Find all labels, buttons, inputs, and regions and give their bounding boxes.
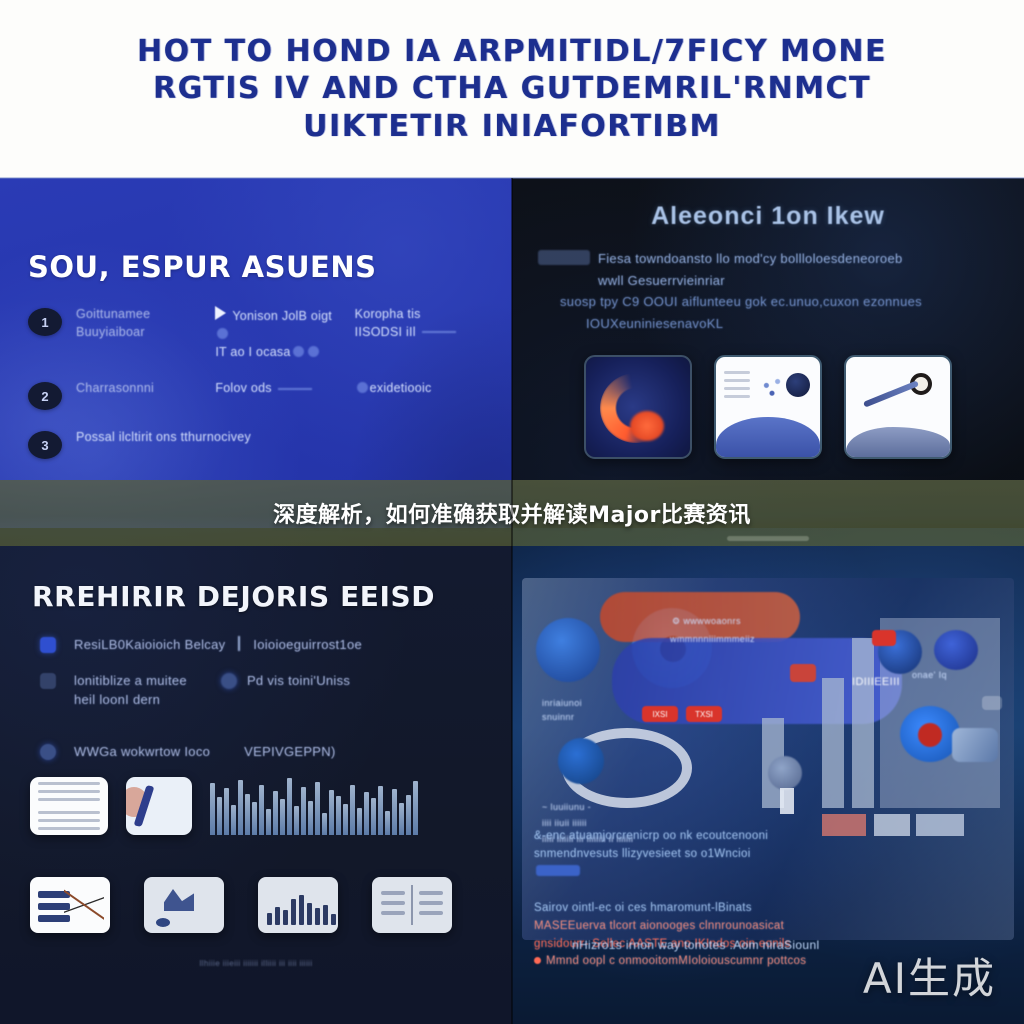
row-right-text: VEPIVGEPPN) bbox=[244, 742, 335, 762]
chip-icon bbox=[308, 346, 319, 357]
br-line-2: snmendnvesuts llizyvesieet so o1Wncioi bbox=[534, 846, 1008, 864]
red-dot bbox=[918, 723, 942, 747]
badge-icon bbox=[536, 865, 580, 876]
device-chip bbox=[952, 728, 998, 762]
br2-line-4: Mmnd oopl c onmooitomMIoloiouscumnr pott… bbox=[546, 955, 806, 967]
globe-icon bbox=[40, 744, 56, 760]
document-pages-card bbox=[372, 877, 452, 933]
title-line-3: UIKTETIR INIAFORTIBM bbox=[303, 109, 721, 144]
row-left-text: WWGa wokwrtow Ioco bbox=[74, 742, 210, 762]
list-item-col1-line1: Possal ilcltirit ons tthurnocivey bbox=[76, 429, 484, 447]
chip-icon bbox=[357, 382, 368, 393]
chip-icon bbox=[293, 346, 304, 357]
br-line-1: &-enc atuamjorcrenicrp oo nk ecoutcenoon… bbox=[534, 828, 1008, 846]
list-item-col2-line1: Folov ods bbox=[215, 381, 271, 395]
top-left-heading: SOU, ESPUR ASUENS bbox=[28, 250, 484, 284]
globe-icon bbox=[221, 673, 237, 689]
panel-top-right: Aleeonci 1on Ikew Fiesa towndoansto llo … bbox=[512, 178, 1024, 528]
thumbnail-row-top bbox=[0, 777, 512, 835]
collage-label: iiii iiuii iiiiii bbox=[542, 818, 722, 828]
document-thumbnail bbox=[30, 777, 108, 835]
placeholder-text-lines bbox=[724, 371, 750, 403]
list-item-col3-line2: IISODSI iIl bbox=[355, 325, 416, 339]
row-left-text-2: heil loonI dern bbox=[74, 690, 187, 710]
collage-label: ~ luuiiunu - bbox=[542, 802, 722, 812]
analytics-preview bbox=[844, 355, 952, 459]
red-pill-badge: TXSI bbox=[686, 706, 722, 722]
divider-line bbox=[278, 388, 312, 390]
list-number-badge: 1 bbox=[28, 308, 62, 336]
collage-label: wmmnnniiimmmeiiz bbox=[670, 634, 850, 644]
list-item-col1-line1: Charrasonnni bbox=[76, 380, 205, 398]
top-right-heading: Aleeonci 1on Ikew bbox=[538, 202, 998, 231]
bottom-left-footer: llhiiie iiieiii iiiiiii illiiii iii iiii… bbox=[0, 959, 512, 968]
list-number-badge: 3 bbox=[28, 431, 62, 459]
top-right-line-2: wwll Gesuerrvieinriar bbox=[538, 271, 998, 291]
gray-bar bbox=[822, 678, 844, 808]
br2-line-1: Sairov ointl-ec oi ces hmaromunt-lBinats bbox=[534, 900, 1008, 918]
tech-collage-graphic: ⚙ wwwwoaonrs wmmnnniiimmmeiiz inriaiunoi… bbox=[522, 578, 1014, 940]
panel-bottom-left: RREHIRIR DEJORIS EEISD ResiLB0Kaioioich … bbox=[0, 528, 512, 1024]
light-chip bbox=[982, 696, 1002, 710]
panel-divider-vertical bbox=[511, 178, 513, 1024]
gray-orb bbox=[768, 756, 802, 790]
top-right-line-3: suosp tpy C9 OOUI aiflunteeu gok ec.unuo… bbox=[538, 292, 998, 312]
list-item-col1-line1: Goittunamee bbox=[76, 306, 205, 324]
list-item: ResiLB0Kaioioich Belcay Ioioioeguirrost1… bbox=[32, 635, 482, 655]
avatar bbox=[786, 373, 810, 397]
small-orb bbox=[558, 738, 604, 784]
bottom-left-heading: RREHIRIR DEJORIS EEISD bbox=[32, 580, 482, 613]
collage-label: ⚙ wwwwoaonrs bbox=[672, 616, 741, 627]
bookmark-icon bbox=[40, 637, 56, 653]
row-left-text: lonitiblize a muitee bbox=[74, 671, 187, 691]
row-right-text: Pd vis toini'Uniss bbox=[247, 671, 350, 691]
red-pill-badge bbox=[790, 664, 816, 682]
red-pill-badge bbox=[872, 630, 896, 646]
list-item: 3 Possal ilcltirit ons tthurnocivey bbox=[28, 429, 484, 459]
infographic-canvas: HOT TO HOND IA ARPMITIDL/7FICY MONE RGTI… bbox=[0, 0, 1024, 1024]
panel-top-left: SOU, ESPUR ASUENS 1 Goittunamee Buuyiaib… bbox=[0, 178, 512, 528]
bullet-dot-icon bbox=[534, 957, 541, 964]
list-item-col2-line2: IT ao I ocasa bbox=[215, 345, 290, 359]
list-item: lonitiblize a muitee heil loonI dern Pd … bbox=[32, 671, 482, 710]
collage-label: snuinnr bbox=[542, 712, 574, 722]
line-chart-card bbox=[30, 877, 110, 933]
ai-generated-watermark: AI生成 bbox=[863, 945, 996, 1006]
br2-line-2: MASEEuerva tlcort aionooges clnnrounoasi… bbox=[534, 918, 1008, 936]
mountain-chart-card bbox=[144, 877, 224, 933]
title-line-1: HOT TO HOND IA ARPMITIDL/7FICY MONE bbox=[137, 34, 887, 69]
blue-orb bbox=[934, 630, 978, 670]
row-right-text: Ioioioeguirrost1oe bbox=[253, 637, 362, 652]
collage-label: onae' Iq bbox=[912, 670, 947, 680]
title-line-2: RGTIS IV AND CTHA GUTDEMRIL'RNMCT bbox=[153, 71, 871, 106]
list-item-col3-line1: exidetiooic bbox=[370, 381, 432, 395]
chevron-down-icon bbox=[40, 673, 56, 689]
list-item: 1 Goittunamee Buuyiaiboar Yonison JolB o… bbox=[28, 306, 484, 361]
bar-chart-card bbox=[258, 877, 338, 933]
row-left-text: ResiLB0Kaioioich Belcay bbox=[74, 637, 225, 652]
collage-label: inriaiunoi bbox=[542, 698, 582, 708]
badge-icon bbox=[538, 250, 590, 265]
blue-orb bbox=[536, 618, 600, 682]
gray-bar bbox=[852, 638, 874, 808]
trend-line-icon bbox=[863, 380, 919, 407]
list-item-col3-line1: Koropha tis bbox=[355, 306, 484, 324]
stand-bar bbox=[780, 788, 794, 814]
bottom-right-text-block-1: &-enc atuamjorcrenicrp oo nk ecoutcenoon… bbox=[534, 828, 1008, 881]
scatter-icon bbox=[758, 375, 786, 401]
dashboard-preview bbox=[714, 355, 822, 459]
divider-line bbox=[422, 331, 456, 333]
particle-swirl-preview bbox=[584, 355, 692, 459]
bar-chart-thumbnail bbox=[210, 777, 418, 835]
top-right-line-4: IOUXeuniniesenavoKL bbox=[538, 314, 998, 334]
send-icon bbox=[215, 306, 226, 320]
collage-label: IDIIIEEIII bbox=[852, 676, 900, 688]
list-item-col1-line2: Buuyiaiboar bbox=[76, 324, 205, 342]
list-item-col2-line1: Yonison JolB oigt bbox=[232, 309, 332, 323]
title-band: HOT TO HOND IA ARPMITIDL/7FICY MONE RGTI… bbox=[0, 0, 1024, 178]
list-item: 2 Charrasonnni Folov ods exidetiooic bbox=[28, 380, 484, 410]
list-number-badge: 2 bbox=[28, 382, 62, 410]
chip-icon bbox=[217, 328, 228, 339]
thumbnail-row-bottom bbox=[0, 877, 512, 933]
top-right-line-1: Fiesa towndoansto llo mod'cy bollloloesd… bbox=[598, 251, 903, 266]
divider-line bbox=[238, 636, 240, 651]
red-pill-badge: IXSI bbox=[642, 706, 678, 722]
map-thumbnail bbox=[126, 777, 192, 835]
device-mockup-group bbox=[538, 355, 998, 459]
list-item: WWGa wokwrtow Ioco VEPIVGEPPN) bbox=[32, 742, 482, 762]
